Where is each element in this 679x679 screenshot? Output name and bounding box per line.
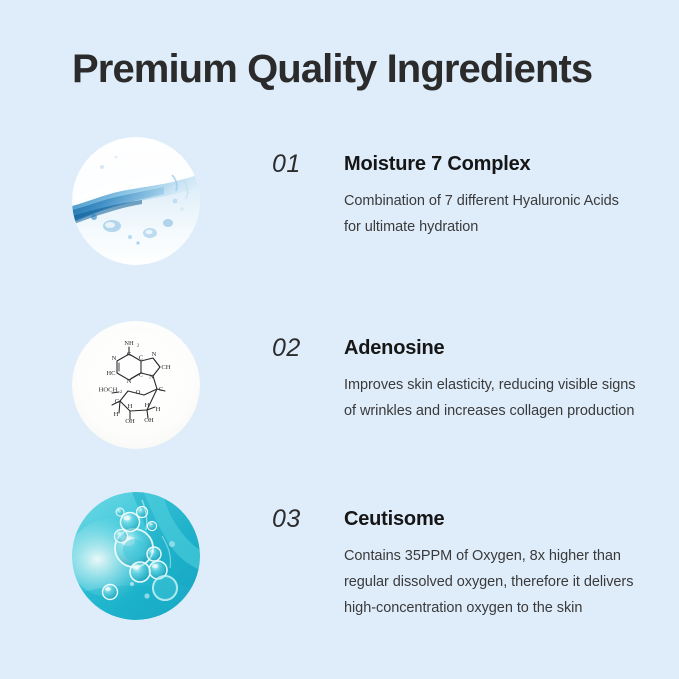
svg-text:N: N [152,351,157,358]
ingredient-number: 01 [272,149,301,179]
svg-text:OH: OH [144,417,154,424]
svg-text:C: C [127,351,132,358]
infographic-page: Premium Quality Ingredients [0,0,679,679]
ingredient-text: 03 Ceutisome Contains 35PPM of Oxygen, 8… [272,504,632,621]
ingredient-name: Adenosine [344,333,444,363]
svg-text:H: H [114,411,119,418]
ingredient-headline: 02 Adenosine [272,333,632,363]
svg-text:OH: OH [125,418,135,425]
ingredient-number: 02 [272,333,301,363]
description-line: for ultimate hydration [344,214,632,240]
svg-text:N: N [127,378,132,385]
ingredient-item: 01 Moisture 7 Complex Combination of 7 d… [72,137,632,267]
page-title: Premium Quality Ingredients [72,44,592,94]
svg-text:C: C [159,386,164,393]
ingredient-headline: 03 Ceutisome [272,504,632,534]
description-line: Contains 35PPM of Oxygen, 8x higher than [344,543,632,569]
ingredient-item: NH 2 C N HC N C C N CH N O HOCH [72,321,632,451]
ingredient-description: Improves skin elasticity, reducing visib… [344,372,632,424]
svg-text:C: C [115,398,120,405]
oxygen-bubbles-photo [72,492,200,620]
svg-text:C: C [139,372,144,379]
description-line: of wrinkles and increases collagen produ… [344,398,632,424]
ingredient-description: Combination of 7 different Hyaluronic Ac… [344,188,632,240]
ingredient-name: Ceutisome [344,504,444,534]
svg-text:H: H [145,402,150,409]
svg-text:NH: NH [124,340,134,347]
svg-text:H: H [156,406,161,413]
svg-text:CH: CH [161,364,170,371]
water-splash-photo [72,137,200,265]
svg-text:HC: HC [106,370,116,377]
description-line: Improves skin elasticity, reducing visib… [344,372,632,398]
description-line: Combination of 7 different Hyaluronic Ac… [344,188,632,214]
ingredient-name: Moisture 7 Complex [344,149,530,179]
ingredient-text: 01 Moisture 7 Complex Combination of 7 d… [272,149,632,240]
description-line: high-concentration oxygen to the skin [344,595,632,621]
svg-text:H: H [128,403,133,410]
svg-text:HOCH: HOCH [99,387,118,394]
svg-text:N: N [112,355,117,362]
ingredient-text: 02 Adenosine Improves skin elasticity, r… [272,333,632,424]
svg-text:N: N [149,374,154,381]
svg-text:C: C [139,355,144,362]
ingredient-item: 03 Ceutisome Contains 35PPM of Oxygen, 8… [72,492,632,622]
description-line: regular dissolved oxygen, therefore it d… [344,569,632,595]
svg-text:O: O [136,389,141,396]
ingredient-description: Contains 35PPM of Oxygen, 8x higher than… [344,543,632,621]
ingredient-number: 03 [272,504,301,534]
ingredient-headline: 01 Moisture 7 Complex [272,149,632,179]
adenosine-molecule-diagram: NH 2 C N HC N C C N CH N O HOCH [72,321,200,449]
